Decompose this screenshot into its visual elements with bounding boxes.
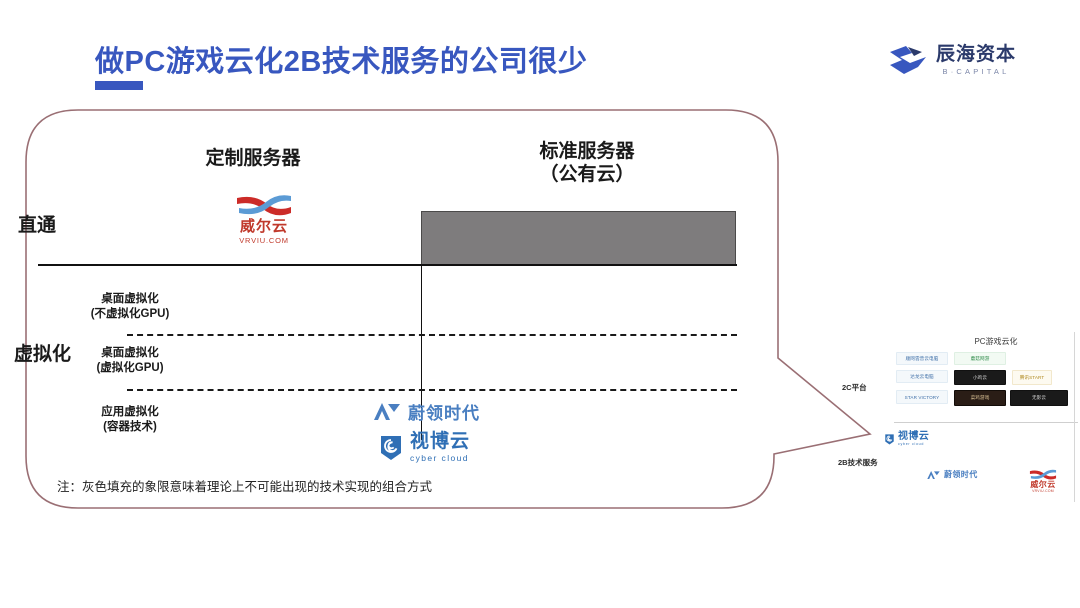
thumbnail-cybercloud-en: cyber cloud [898, 443, 929, 447]
slide-canvas: 做PC游戏云化2B技术服务的公司很少 辰海资本 B·CAPITAL 定制服务器 … [0, 0, 1080, 608]
page-title: 做PC游戏云化2B技术服务的公司很少 [95, 38, 587, 80]
thumbnail-tile: 蘑菇网游 [954, 352, 1006, 365]
thumbnail-cybercloud-cn: 视博云 [898, 432, 929, 443]
sub-row-desktop-no-gpu-line2: (不虚拟化GPU) [60, 307, 200, 322]
matrix-dashed-divider-2 [127, 389, 737, 391]
welling-name-cn: 蔚领时代 [408, 399, 480, 424]
brand-name-en: B·CAPITAL [936, 68, 1016, 76]
thumbnail-label-2c: 2C平台 [842, 382, 867, 393]
column-header-standard-line2: （公有云） [503, 163, 671, 186]
sub-row-app-container-line1: 应用虚拟化 [60, 405, 200, 420]
vrviu-name-cn: 威尔云 [228, 219, 300, 235]
sub-row-desktop-gpu-line2: (虚拟化GPU) [60, 361, 200, 376]
cybercloud-spiral-icon [378, 433, 404, 461]
vendor-logo-welling: 蔚领时代 [372, 399, 480, 424]
vrviu-swoosh-icon [233, 192, 295, 218]
vrviu-name-en: VRVIU.COM [228, 236, 300, 245]
thumbnail-tile: 腾讯START [1012, 370, 1052, 385]
cybercloud-name-cn: 视博云 [410, 432, 470, 451]
thumbnail-right-edge [1074, 332, 1075, 502]
impossible-quadrant-cell [421, 211, 736, 265]
thumbnail-logo-vrviu: 威尔云 VRVIU.COM [1024, 468, 1062, 493]
cybercloud-spiral-icon [884, 433, 895, 445]
thumbnail-divider [894, 422, 1078, 423]
vendor-logo-cybercloud: 视博云 cyber cloud [378, 432, 470, 463]
thumbnail-vrviu-cn: 威尔云 [1024, 481, 1062, 489]
welling-mark-icon [372, 401, 402, 422]
sub-row-desktop-no-gpu-line1: 桌面虚拟化 [60, 292, 200, 307]
column-header-standard-line1: 标准服务器 [503, 140, 671, 163]
thumbnail-label-2b: 2B技术服务 [838, 457, 878, 468]
thumbnail-logo-welling: 蔚领时代 [926, 469, 978, 480]
thumbnail-tile: 达龙云电脑 [896, 370, 948, 383]
thumbnail-tile: 顺网雲普云电脑 [896, 352, 948, 365]
footnote: 注：灰色填充的象限意味着理论上不可能出现的技术实现的组合方式 [57, 476, 432, 495]
column-header-standard-server: 标准服务器 （公有云） [503, 140, 671, 186]
thumbnail-tile: STAR VICTORY [896, 390, 948, 404]
chevron-mark-icon [888, 43, 928, 77]
thumbnail-logo-cybercloud: 视博云 cyber cloud [884, 432, 929, 446]
cybercloud-text: 视博云 cyber cloud [410, 432, 470, 463]
sub-row-desktop-gpu: 桌面虚拟化 (虚拟化GPU) [60, 346, 200, 377]
title-accent-bar [95, 81, 143, 90]
sub-row-app-container-line2: (容器技术) [60, 420, 200, 435]
row-header-direct: 直通 [18, 210, 56, 237]
matrix-horizontal-axis [38, 264, 737, 266]
welling-mark-icon [926, 470, 941, 480]
thumbnail-tile: 小鸡云 [954, 370, 1006, 385]
thumbnail-tile: 菜鸡游戏 [954, 390, 1006, 406]
brand-text: 辰海资本 B·CAPITAL [936, 45, 1016, 76]
brand-logo: 辰海资本 B·CAPITAL [888, 43, 1016, 77]
thumbnail-cybercloud-text: 视博云 cyber cloud [898, 432, 929, 446]
thumbnail-welling-cn: 蔚领时代 [944, 469, 978, 480]
matrix-dashed-divider-1 [127, 334, 737, 336]
thumbnail-vrviu-en: VRVIU.COM [1024, 489, 1062, 493]
cybercloud-name-en: cyber cloud [410, 454, 470, 463]
vendor-logo-vrviu: 威尔云 VRVIU.COM [228, 192, 300, 245]
sub-row-desktop-gpu-line1: 桌面虚拟化 [60, 346, 200, 361]
sub-row-app-container: 应用虚拟化 (容器技术) [60, 405, 200, 436]
column-header-custom-server: 定制服务器 [178, 147, 328, 170]
sub-row-desktop-no-gpu: 桌面虚拟化 (不虚拟化GPU) [60, 292, 200, 323]
thumbnail-tile: 无影云 [1010, 390, 1068, 406]
thumbnail-panel: PC游戏云化 2C平台 2B技术服务 顺网雲普云电脑 蘑菇网游 达龙云电脑 小鸡… [828, 326, 1078, 508]
brand-name-cn: 辰海资本 [936, 45, 1016, 64]
thumbnail-title: PC游戏云化 [936, 336, 1056, 347]
